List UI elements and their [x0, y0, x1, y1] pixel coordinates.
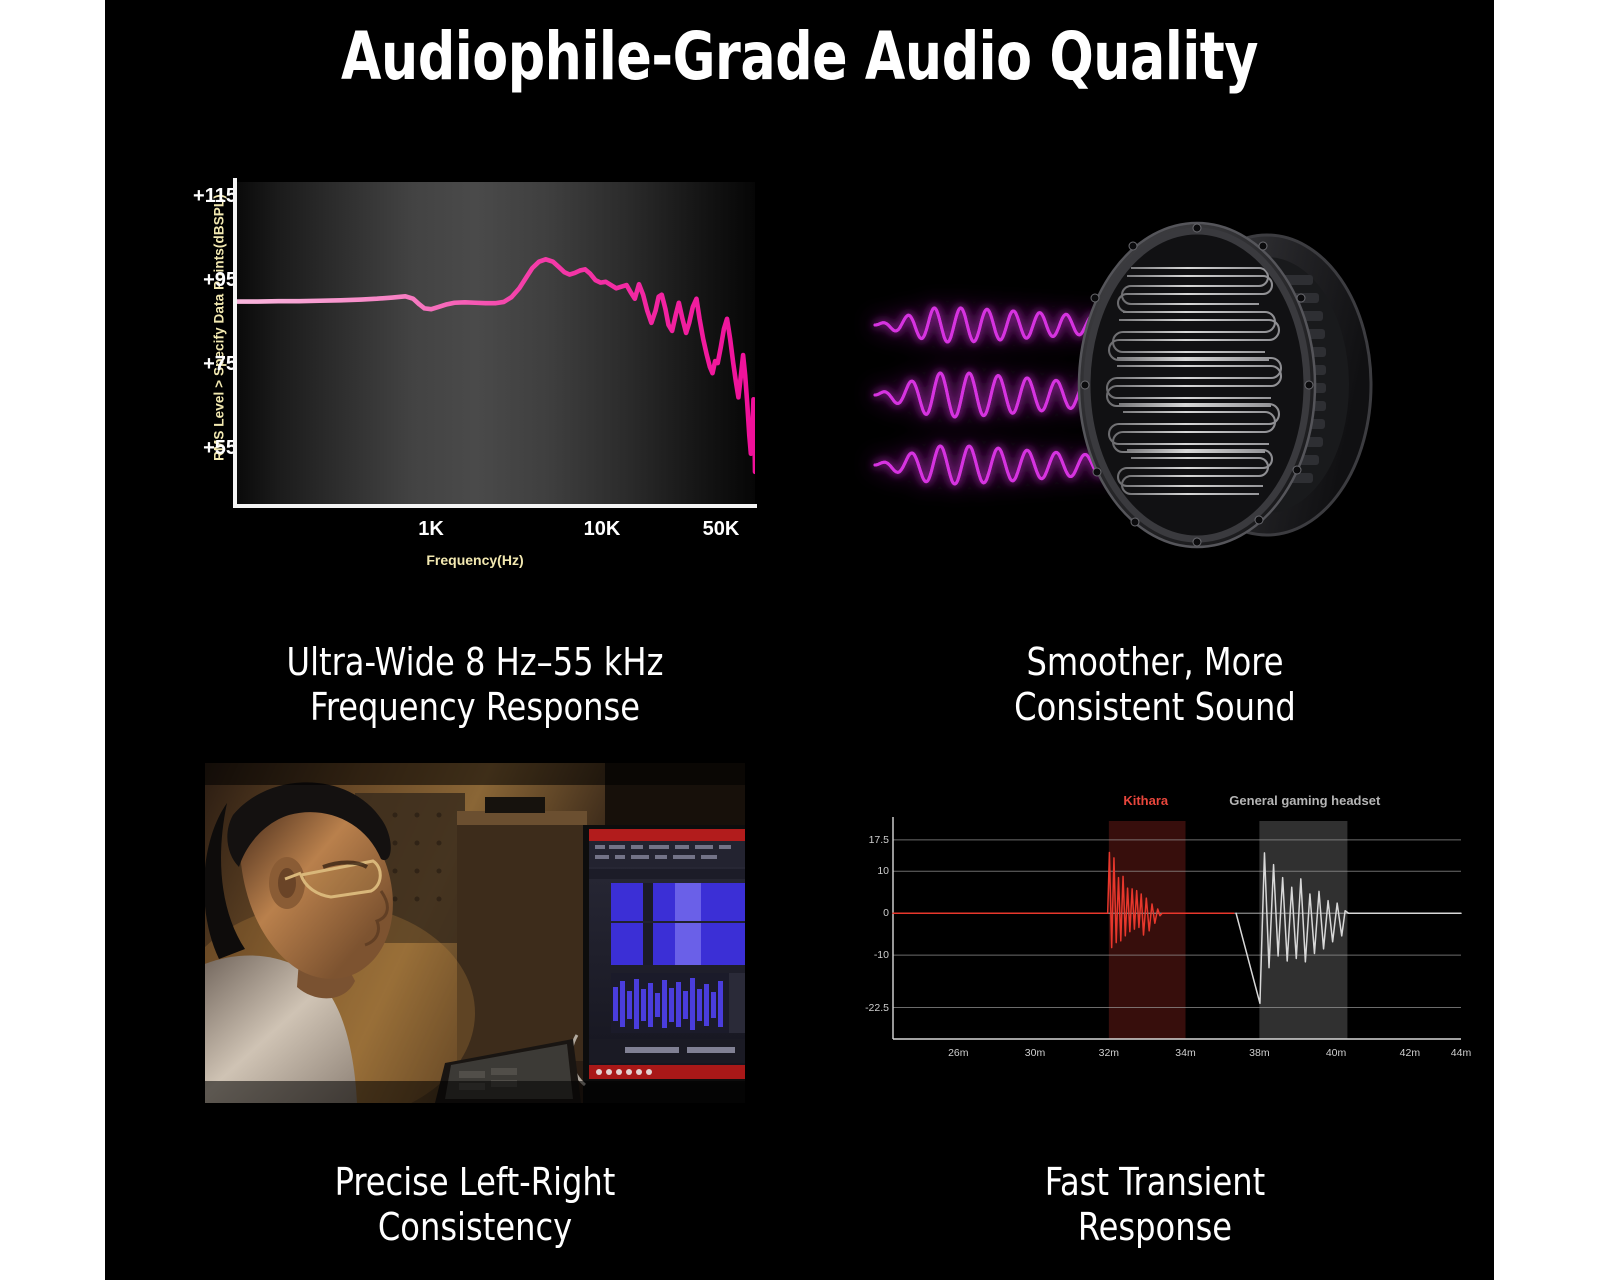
- panel-studio-photo: Precise Left-Right Consistency: [155, 745, 795, 1250]
- fr-y-axis-label: RMS Level > Specify Data Points(dBSPL): [212, 178, 227, 478]
- caption-line: Response: [854, 1205, 1456, 1250]
- tr-x-tick: 42m: [1400, 1047, 1420, 1059]
- planar-driver-illustration: [835, 180, 1475, 590]
- studio-photo-svg: [205, 763, 745, 1103]
- caption-line: Fast Transient: [854, 1160, 1456, 1205]
- fr-x-tick: 50K: [703, 518, 740, 541]
- studio-photo: [205, 763, 745, 1103]
- caption-driver: Smoother, More Consistent Sound: [854, 640, 1456, 730]
- tr-x-tick: 30m: [1025, 1047, 1045, 1059]
- caption-line: Consistency: [174, 1205, 776, 1250]
- fr-plot-area: [237, 182, 755, 504]
- poster-canvas: Audiophile-Grade Audio Quality RMS Level…: [0, 0, 1600, 1280]
- panel-transient-response: Kithara General gaming headset 17.5 10 0…: [835, 745, 1475, 1250]
- panel-driver: Smoother, More Consistent Sound: [835, 170, 1475, 730]
- caption-line: Frequency Response: [174, 685, 776, 730]
- fr-x-tick: 10K: [584, 518, 621, 541]
- fr-y-tick: +115: [167, 185, 237, 208]
- caption-transient-response: Fast Transient Response: [854, 1160, 1456, 1250]
- panel-frequency-response: RMS Level > Specify Data Points(dBSPL) +…: [155, 170, 795, 730]
- caption-line: Consistent Sound: [854, 685, 1456, 730]
- transient-plot-svg: [845, 815, 1465, 1065]
- tr-x-tick: 40m: [1326, 1047, 1346, 1059]
- fr-x-axis-label: Frequency(Hz): [155, 552, 795, 568]
- caption-line: Ultra-Wide 8 Hz–55 kHz: [174, 640, 776, 685]
- frequency-response-chart: RMS Level > Specify Data Points(dBSPL) +…: [155, 170, 795, 590]
- tr-x-tick: 34m: [1175, 1047, 1195, 1059]
- fr-y-tick: +95: [167, 269, 237, 292]
- driver-svg: [835, 180, 1475, 590]
- legend-kithara: Kithara: [1123, 793, 1168, 808]
- driver-front-frame: [1079, 223, 1315, 547]
- transient-response-chart: Kithara General gaming headset 17.5 10 0…: [845, 793, 1465, 1093]
- tr-x-tick: 26m: [948, 1047, 968, 1059]
- fr-y-axis-line: [233, 178, 237, 508]
- caption-studio-photo: Precise Left-Right Consistency: [174, 1160, 776, 1250]
- tr-x-tick: 32m: [1099, 1047, 1119, 1059]
- content-panel: Audiophile-Grade Audio Quality RMS Level…: [105, 0, 1494, 1280]
- caption-line: Smoother, More: [854, 640, 1456, 685]
- fr-x-tick: 1K: [418, 518, 444, 541]
- legend-general-gaming-headset: General gaming headset: [1229, 793, 1380, 808]
- fr-y-tick: +75: [167, 353, 237, 376]
- fr-curve-svg: [237, 182, 755, 504]
- fr-y-tick: +55: [167, 437, 237, 460]
- caption-frequency-response: Ultra-Wide 8 Hz–55 kHz Frequency Respons…: [174, 640, 776, 730]
- monitor: [583, 825, 745, 1103]
- caption-line: Precise Left-Right: [174, 1160, 776, 1205]
- fr-x-axis-line: [233, 504, 757, 508]
- page-title: Audiophile-Grade Audio Quality: [188, 22, 1410, 91]
- tr-x-tick: 38m: [1249, 1047, 1269, 1059]
- tr-x-tick: 44m: [1451, 1047, 1471, 1059]
